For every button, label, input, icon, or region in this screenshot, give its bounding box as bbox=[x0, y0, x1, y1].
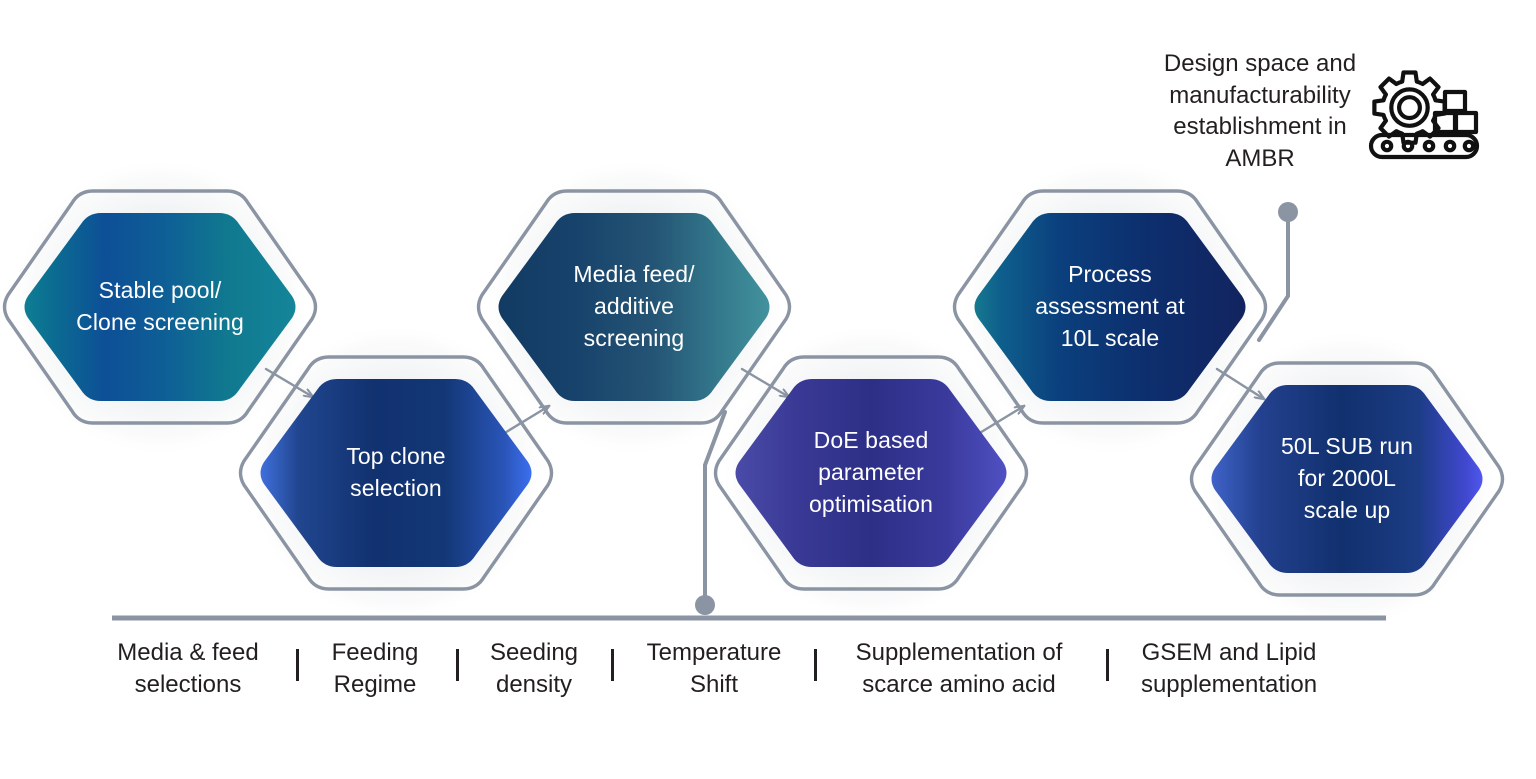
temperature-shift-leader-dot bbox=[695, 595, 715, 615]
axis-separator-3 bbox=[611, 649, 614, 681]
axis-separator-2 bbox=[456, 649, 459, 681]
manufacturing-gear-conveyor-icon bbox=[1371, 73, 1477, 158]
axis-label-supplementation-scarce-amino-acid: Supplementation of scarce amino acid bbox=[819, 637, 1099, 701]
axis-label-temperature-shift: Temperature Shift bbox=[594, 637, 834, 701]
axis-separator-5 bbox=[1106, 649, 1109, 681]
axis-separator-4 bbox=[814, 649, 817, 681]
axis-label-gsem-lipid-supplementation: GSEM and Lipid supplementation bbox=[1109, 637, 1349, 701]
ambr-annotation-text: Design space and manufacturability estab… bbox=[1142, 48, 1378, 175]
axis-separator-1 bbox=[296, 649, 299, 681]
ambr-annotation-leader-dot bbox=[1278, 202, 1298, 222]
process-flow-diagram: Stable pool/ Clone screening Top clone s… bbox=[0, 0, 1536, 779]
ambr-annotation-leader-line bbox=[1259, 218, 1288, 340]
temperature-shift-leader-line bbox=[705, 412, 725, 600]
